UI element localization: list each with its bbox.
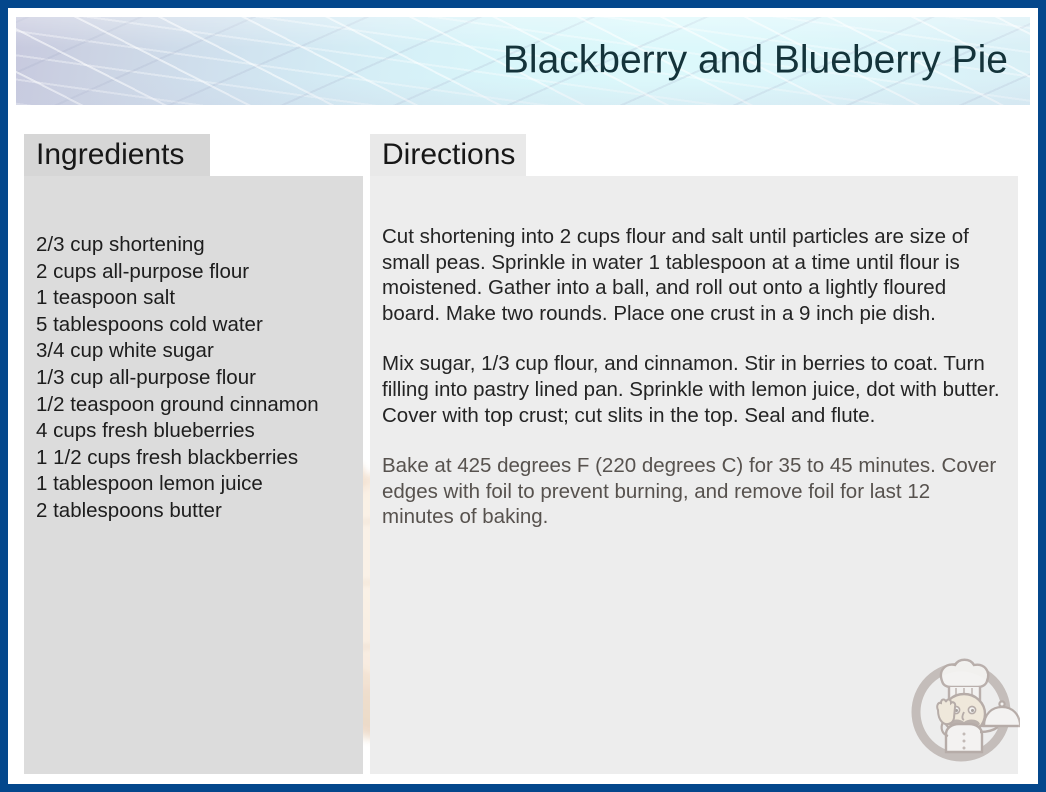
- directions-paragraph: Bake at 425 degrees F (220 degrees C) fo…: [382, 453, 1002, 530]
- list-item: 1 tablespoon lemon juice: [36, 471, 363, 498]
- list-item: 1/3 cup all-purpose flour: [36, 365, 363, 392]
- ingredients-body: 2/3 cup shortening 2 cups all-purpose fl…: [24, 176, 363, 774]
- title-banner: Blackberry and Blueberry Pie: [16, 17, 1030, 105]
- directions-body: Cut shortening into 2 cups flour and sal…: [370, 176, 1018, 774]
- directions-paragraph: Cut shortening into 2 cups flour and sal…: [382, 224, 1002, 326]
- list-item: 2 cups all-purpose flour: [36, 259, 363, 286]
- directions-paragraph: Mix sugar, 1/3 cup flour, and cinnamon. …: [382, 351, 1002, 428]
- ingredients-panel: Ingredients 2/3 cup shortening 2 cups al…: [24, 134, 363, 774]
- recipe-card: Blackberry and Blueberry Pie: [0, 0, 1046, 792]
- ingredients-list: 2/3 cup shortening 2 cups all-purpose fl…: [24, 176, 363, 525]
- list-item: 4 cups fresh blueberries: [36, 418, 363, 445]
- directions-heading-tab: Directions: [370, 134, 526, 176]
- recipe-page: Blackberry and Blueberry Pie: [8, 8, 1038, 784]
- list-item: 1/2 teaspoon ground cinnamon: [36, 392, 363, 419]
- ingredients-heading: Ingredients: [36, 140, 184, 170]
- list-item: 1 1/2 cups fresh blackberries: [36, 445, 363, 472]
- list-item: 3/4 cup white sugar: [36, 338, 363, 365]
- ingredients-heading-tab: Ingredients: [24, 134, 210, 176]
- list-item: 2/3 cup shortening: [36, 232, 363, 259]
- list-item: 1 teaspoon salt: [36, 285, 363, 312]
- list-item: 2 tablespoons butter: [36, 498, 363, 525]
- list-item: 5 tablespoons cold water: [36, 312, 363, 339]
- directions-panel: Directions Cut shortening into 2 cups fl…: [370, 134, 1018, 774]
- page-title: Blackberry and Blueberry Pie: [503, 40, 1008, 83]
- directions-heading: Directions: [382, 140, 515, 170]
